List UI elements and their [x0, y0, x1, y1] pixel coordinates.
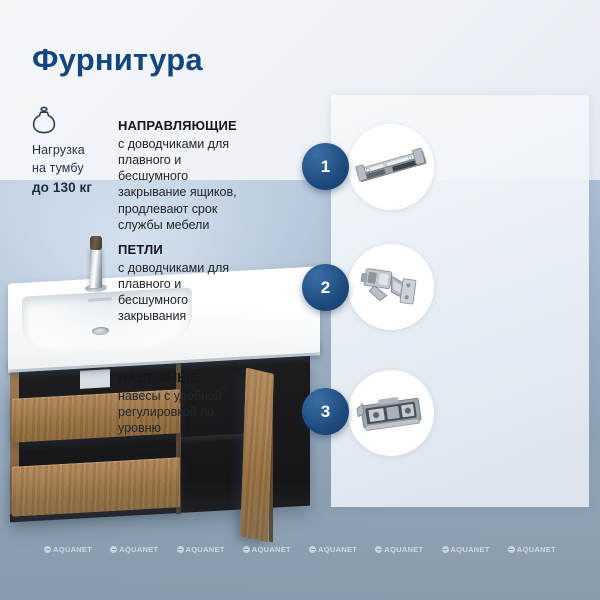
feature-number-badge-1: 1: [302, 143, 349, 190]
feature-number-badge-3: 3: [302, 388, 349, 435]
feature-text-2: ПЕТЛИ с доводчиками для плавного и бесшу…: [118, 242, 254, 325]
feature-title-1: НАПРАВЛЯЮЩИЕ: [118, 118, 254, 135]
cabinet-inner-panel: [80, 369, 110, 389]
feature-description-1: с доводчиками для плавного и бесшумного …: [118, 136, 254, 233]
cabinet-hinge-icon: [348, 244, 434, 330]
faucet-handle: [90, 236, 102, 250]
feature-title-3: НАДЕЖНЫЕ: [118, 370, 254, 387]
feature-description-2: с доводчиками для плавного и бесшумного …: [118, 260, 254, 325]
kettlebell-weight-icon: [32, 106, 56, 136]
wall-mount-bracket-icon: [348, 370, 434, 456]
feature-text-3: НАДЕЖНЫЕ навесы с удобной регулировкой п…: [118, 370, 254, 436]
feature-title-2: ПЕТЛИ: [118, 242, 254, 259]
infographic-poster: Фурнитура Нагрузка на тумбу до 130 кг 1: [0, 0, 600, 600]
drawer-slide-rail-icon: [348, 124, 434, 210]
feature-description-3: навесы с удобной регулировкой по уровню: [118, 388, 254, 437]
faucet-spout: [90, 246, 102, 288]
feature-text-1: НАПРАВЛЯЮЩИЕ с доводчиками для плавного …: [118, 118, 254, 233]
page-title: Фурнитура: [32, 44, 203, 75]
feature-number-badge-2: 2: [302, 264, 349, 311]
